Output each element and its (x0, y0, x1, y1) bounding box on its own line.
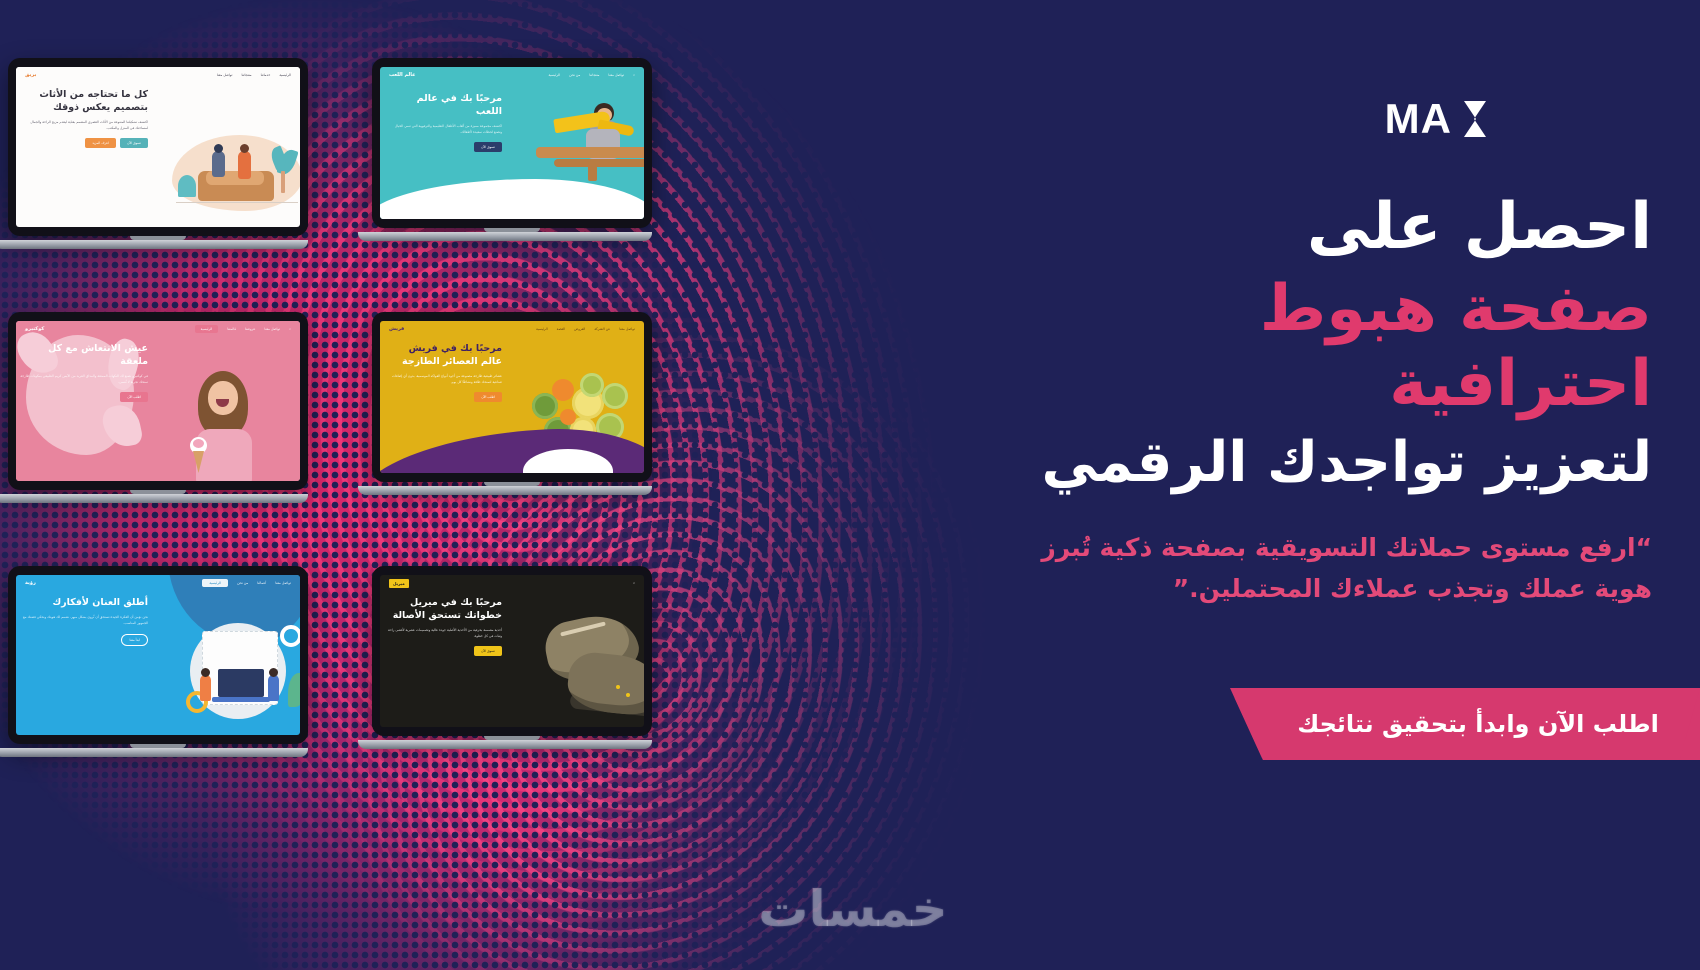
nav-link[interactable]: من نحن (237, 581, 248, 585)
hero-heading: كل ما تحتاجه من الأثاث بتصميم يعكس ذوقك (20, 89, 148, 115)
hero-illustration (158, 83, 300, 227)
site-brand: بريق (25, 72, 36, 78)
site-nav: الرئيسية خدماتنا منتجاتنا تواصل معنا بري… (16, 67, 300, 83)
hero-body: عصائر طبيعية طازجة مصنوعة من أجود أنواع … (384, 374, 502, 386)
nav-link[interactable]: منتجاتنا (241, 73, 251, 77)
nav-link[interactable]: خدماتنا (261, 73, 271, 77)
hero-heading: مرحبًا بك في فريش عالم العصائر الطازجة (384, 343, 502, 369)
nav-link[interactable]: تواصل معنا (217, 73, 233, 77)
laptop-mockups-group: الرئيسية خدماتنا منتجاتنا تواصل معنا بري… (0, 0, 700, 790)
chevron-arrow-icon (1460, 99, 1494, 139)
hero-body: نحن نؤمن أن الفكرة الجيدة تستحق أن تُروى… (20, 615, 148, 627)
site-nav: تواصل معنا أعمالنا من نحن الرئيسية رؤية (16, 575, 300, 591)
order-now-button[interactable]: اطلب الآن وابدأ بتحقيق نتائجك (1230, 688, 1700, 760)
hero-body: اكتشف مجموعة مميزة من ألعاب الأطفال التع… (395, 124, 502, 136)
laptop-base (358, 232, 652, 241)
promo-banner: الرئيسية خدماتنا منتجاتنا تواصل معنا بري… (0, 0, 1700, 970)
laptop-mockup-icecream: ⌕ تواصل معنا عروضنا قائمتنا الرئيسية كوك… (8, 312, 308, 503)
laptop-base (0, 240, 308, 249)
laptop-screen: ⌕ تواصل معنا عروضنا قائمتنا الرئيسية كوك… (16, 321, 300, 481)
nav-link[interactable]: الرئيسية (536, 327, 548, 331)
site-brand: عالم اللعب (389, 72, 416, 78)
brand-logo-text: MA (1385, 98, 1452, 140)
hero-cta-primary[interactable]: اطلب الآن (474, 392, 502, 402)
site-nav: ⌕ تواصل معنا عروضنا قائمتنا الرئيسية كوك… (16, 321, 300, 337)
laptop-mockup-agency: تواصل معنا أعمالنا من نحن الرئيسية رؤية (8, 566, 308, 757)
hero-body: أحذية مصممة بحرفية من الأحذية الأصلية جو… (384, 628, 502, 640)
page-title: احصل على صفحة هبوط احترافية لتعزيز تواجد… (992, 190, 1652, 496)
site-brand: كوكتيرو (25, 326, 44, 332)
hero-heading-line2: خطواتك تستحق الأصالة (393, 610, 502, 621)
laptop-lid: ⌕ تواصل معنا منتجاتنا من نحن الرئيسية عا… (372, 58, 652, 228)
hero-illustration (512, 591, 644, 727)
hero-cta-primary[interactable]: تسوق الآن (474, 142, 502, 152)
hero-illustration (158, 337, 300, 481)
nav-link[interactable]: الرئيسية (279, 73, 291, 77)
cta-button-wrapper: اطلب الآن وابدأ بتحقيق نتائجك (1230, 688, 1700, 760)
search-icon[interactable]: ⌕ (633, 581, 635, 585)
search-icon[interactable]: ⌕ (289, 327, 291, 331)
nav-link[interactable]: تواصل معنا (608, 73, 624, 77)
hero-cta-secondary[interactable]: اعرف المزيد (85, 138, 116, 148)
laptop-lid: تواصل معنا أعمالنا من نحن الرئيسية رؤية (8, 566, 308, 744)
quote-text: “ارفع مستوى حملاتك التسويقية بصفحة ذكية … (1032, 528, 1652, 609)
nav-link[interactable]: العروض (574, 327, 585, 331)
laptop-screen: تواصل معنا أعمالنا من نحن الرئيسية رؤية (16, 575, 300, 735)
promo-content: MA احصل على صفحة هبوط احترافية لتعزيز تو… (940, 0, 1700, 970)
nav-link[interactable]: القصة (557, 327, 565, 331)
site-nav: ⌕ تواصل معنا منتجاتنا من نحن الرئيسية عا… (380, 67, 644, 83)
headline-line-1: احصل على (992, 190, 1652, 266)
laptop-mockup-toys: ⌕ تواصل معنا منتجاتنا من نحن الرئيسية عا… (372, 58, 652, 241)
laptop-lid: الرئيسية خدماتنا منتجاتنا تواصل معنا بري… (8, 58, 308, 236)
hero-heading: مرحبًا بك في عالم اللعب (395, 93, 502, 119)
nav-link[interactable]: عن الشركة (594, 327, 610, 331)
laptop-screen: الرئيسية خدماتنا منتجاتنا تواصل معنا بري… (16, 67, 300, 227)
hero-heading-line2: عالم العصائر الطازجة (402, 356, 502, 367)
site-brand: فريش (389, 326, 404, 332)
laptop-mockup-furniture: الرئيسية خدماتنا منتجاتنا تواصل معنا بري… (8, 58, 308, 249)
nav-link[interactable]: تواصل معنا (264, 327, 280, 331)
nav-link[interactable]: قائمتنا (227, 327, 236, 331)
laptop-mockup-juice: تواصل معنا عن الشركة العروض القصة الرئيس… (372, 312, 652, 495)
laptop-screen: ⌕ تواصل معنا منتجاتنا من نحن الرئيسية عا… (380, 67, 644, 219)
nav-link[interactable]: من نحن (569, 73, 580, 77)
hero-heading: أطلق العنان لأفكارك (20, 597, 148, 610)
laptop-base (0, 494, 308, 503)
site-brand: ميريل (389, 579, 409, 588)
hero-cta-primary[interactable]: تسوق الآن (120, 138, 148, 148)
hero-heading-line1: مرحبًا بك في ميريل (410, 597, 502, 608)
hero-cta-primary[interactable]: تسوق الآن (474, 646, 502, 656)
nav-link[interactable]: منتجاتنا (589, 73, 599, 77)
laptop-screen: ⌕ ميريل (380, 575, 644, 727)
hero-heading: عيش الانتعاش مع كل ملعقة (20, 343, 148, 369)
nav-link[interactable]: الرئيسية (548, 73, 560, 77)
hero-illustration (158, 591, 300, 735)
laptop-base (0, 748, 308, 757)
nav-link-active[interactable]: الرئيسية (202, 579, 228, 587)
hero-heading: مرحبًا بك في ميريل خطواتك تستحق الأصالة (384, 597, 502, 623)
hero-body: في كوكتيرو نصنع لك النكهات الممتعة والمذ… (20, 374, 148, 386)
hero-body: اكتشف تشكيلتنا المتنوعة من الأثاث العصري… (20, 120, 148, 132)
laptop-base (358, 486, 652, 495)
cta-label: اطلب الآن وابدأ بتحقيق نتائجك (1297, 710, 1659, 738)
laptop-lid: ⌕ تواصل معنا عروضنا قائمتنا الرئيسية كوك… (8, 312, 308, 490)
nav-link[interactable]: تواصل معنا (275, 581, 291, 585)
nav-link[interactable]: أعمالنا (257, 581, 266, 585)
laptop-lid: ⌕ ميريل (372, 566, 652, 736)
hero-cta-primary[interactable]: ابدأ معنا (121, 634, 148, 646)
brand-logo: MA (1385, 98, 1494, 140)
site-nav: تواصل معنا عن الشركة العروض القصة الرئيس… (380, 321, 644, 337)
search-icon[interactable]: ⌕ (633, 73, 635, 77)
nav-link-active[interactable]: الرئيسية (195, 325, 219, 333)
site-nav: ⌕ ميريل (380, 575, 644, 591)
site-brand: رؤية (25, 580, 36, 586)
hero-cta-primary[interactable]: اطلب الآن (120, 392, 148, 402)
headline-line-2: صفحة هبوط احترافية (992, 272, 1652, 423)
laptop-screen: تواصل معنا عن الشركة العروض القصة الرئيس… (380, 321, 644, 473)
nav-link[interactable]: عروضنا (245, 327, 255, 331)
laptop-base (358, 740, 652, 749)
laptop-lid: تواصل معنا عن الشركة العروض القصة الرئيس… (372, 312, 652, 482)
headline-line-3: لتعزيز تواجدك الرقمي (992, 429, 1652, 496)
nav-link[interactable]: تواصل معنا (619, 327, 635, 331)
hero-heading-line1: مرحبًا بك في فريش (409, 343, 502, 354)
laptop-mockup-shoes: ⌕ ميريل (372, 566, 652, 749)
